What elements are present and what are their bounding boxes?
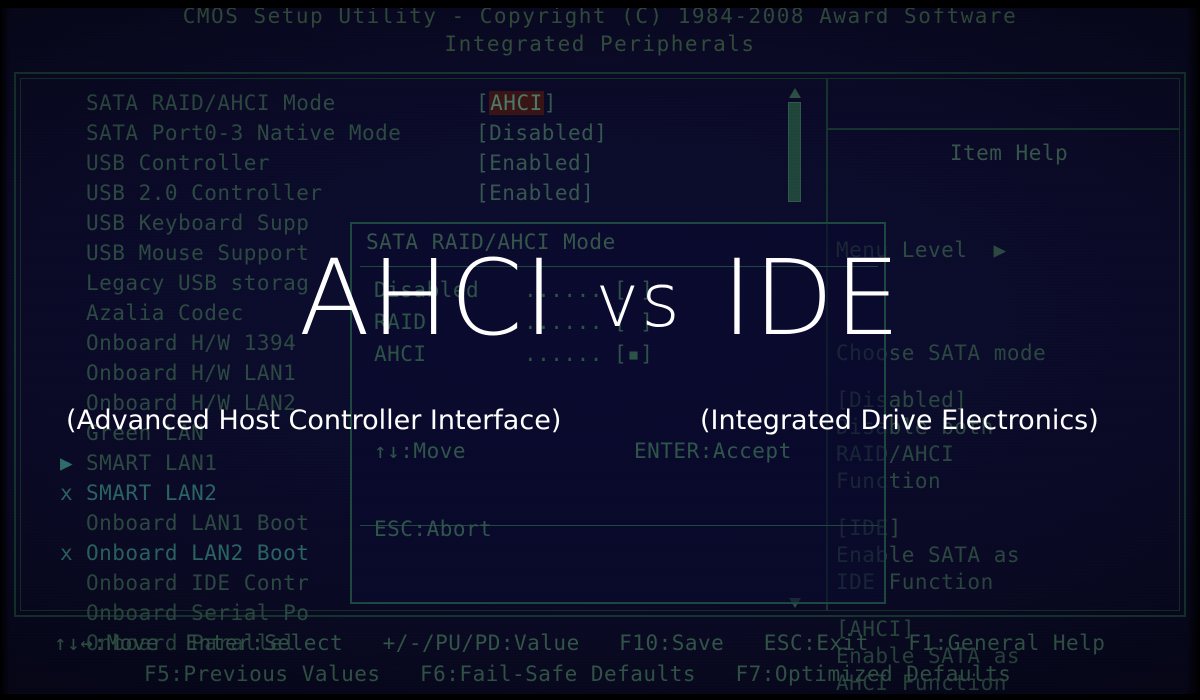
row-marker xyxy=(60,298,86,328)
row-marker xyxy=(60,88,86,118)
letterbox-bottom xyxy=(0,694,1200,700)
dialog-option-label: RAID xyxy=(374,306,524,338)
bios-screen: CMOS Setup Utility - Copyright (C) 1984-… xyxy=(0,0,1200,700)
letterbox-top xyxy=(0,0,1200,8)
menu-row-value[interactable]: [AHCI] xyxy=(476,88,800,118)
dialog-option[interactable]: AHCI......[▪] xyxy=(374,338,664,370)
dialog-key-accept: ENTER:Accept xyxy=(634,436,792,466)
item-help-block-line: RAID/AHCI xyxy=(836,441,1182,468)
row-marker xyxy=(60,178,86,208)
row-marker xyxy=(60,508,86,538)
dialog-footer: ↑↓:Move ENTER:Accept ESC:Abort xyxy=(374,388,874,592)
dialog-option-dots: ...... xyxy=(524,338,614,370)
menu-level-row: Menu Level▶ xyxy=(836,238,1182,262)
row-marker xyxy=(60,358,86,388)
screenshot-root: CMOS Setup Utility - Copyright (C) 1984-… xyxy=(0,0,1200,700)
selected-value-highlight[interactable]: AHCI xyxy=(489,91,544,115)
dialog-option-dots: ...... xyxy=(524,274,614,306)
row-marker xyxy=(60,208,86,238)
row-marker xyxy=(60,268,86,298)
dialog-option-label: Disabled xyxy=(374,274,524,306)
menu-level-marker-icon: ▶ xyxy=(967,238,1006,262)
row-marker xyxy=(60,598,86,628)
scrollbar-thumb[interactable] xyxy=(788,102,801,202)
dialog-title-divider xyxy=(360,266,878,267)
menu-row[interactable]: USB Controller[Enabled] xyxy=(60,148,800,178)
menu-row-label: SATA Port0-3 Native Mode xyxy=(86,118,476,148)
row-marker xyxy=(60,388,86,418)
key-hints-line2: F5:Previous Values F6:Fail-Safe Defaults… xyxy=(14,659,1186,690)
row-marker xyxy=(60,568,86,598)
menu-row-value[interactable]: [Enabled] xyxy=(476,178,800,208)
item-help-intro: Choose SATA mode xyxy=(836,340,1182,367)
scroll-up-arrow-icon[interactable] xyxy=(789,88,801,98)
dialog-option-label: AHCI xyxy=(374,338,524,370)
item-help-block-line: Enable SATA as xyxy=(836,542,1182,569)
menu-row-value[interactable]: [Enabled] xyxy=(476,148,800,178)
dialog-key-abort: ESC:Abort xyxy=(374,514,634,544)
bios-title-line2: Integrated Peripherals xyxy=(0,32,1200,56)
item-help-block: [Disabled]Disable bothRAID/AHCIFunction xyxy=(836,387,1182,495)
row-marker xyxy=(60,238,86,268)
dialog-option-checkbox[interactable]: [ ] xyxy=(614,274,664,306)
menu-row-label: SATA RAID/AHCI Mode xyxy=(86,88,476,118)
item-help-title: Item Help xyxy=(836,134,1182,172)
menu-row-label: USB 2.0 Controller xyxy=(86,178,476,208)
dialog-title: SATA RAID/AHCI Mode xyxy=(366,230,616,254)
dialog-key-move: ↑↓:Move xyxy=(374,436,634,466)
row-marker xyxy=(60,418,86,448)
disabled-marker-icon: x xyxy=(60,538,86,568)
dialog-option-checkbox-checked[interactable]: [▪] xyxy=(614,338,664,370)
menu-row[interactable]: SATA Port0-3 Native Mode[Disabled] xyxy=(60,118,800,148)
key-hints-line1: ↑↓↔:Move Enter:Select +/-/PU/PD:Value F1… xyxy=(14,628,1186,659)
sata-mode-dialog[interactable]: SATA RAID/AHCI Mode Disabled......[ ]RAI… xyxy=(350,222,886,604)
dialog-option-list[interactable]: Disabled......[ ]RAID......[ ]AHCI......… xyxy=(374,274,664,370)
item-help-block-line: Disable both xyxy=(836,414,1182,441)
menu-row-label: USB Controller xyxy=(86,148,476,178)
item-help-block-value: [IDE] xyxy=(836,515,1182,542)
disabled-marker-icon: x xyxy=(60,478,86,508)
item-help-block: [IDE]Enable SATA asIDE Function xyxy=(836,515,1182,596)
row-marker xyxy=(60,118,86,148)
dialog-option[interactable]: RAID......[ ] xyxy=(374,306,664,338)
dialog-option-dots: ...... xyxy=(524,306,614,338)
submenu-arrow-icon: ▶ xyxy=(60,448,86,478)
item-help-block-value: [Disabled] xyxy=(836,387,1182,414)
dialog-option-checkbox[interactable]: [ ] xyxy=(614,306,664,338)
menu-row[interactable]: USB 2.0 Controller[Enabled] xyxy=(60,178,800,208)
dialog-option[interactable]: Disabled......[ ] xyxy=(374,274,664,306)
menu-row-value[interactable]: [Disabled] xyxy=(476,118,800,148)
row-marker xyxy=(60,328,86,358)
item-help-block-line: Function xyxy=(836,468,1182,495)
function-key-bar: ↑↓↔:Move Enter:Select +/-/PU/PD:Value F1… xyxy=(14,628,1186,694)
item-help-block-line: IDE Function xyxy=(836,569,1182,596)
row-marker xyxy=(60,148,86,178)
menu-row[interactable]: SATA RAID/AHCI Mode[AHCI] xyxy=(60,88,800,118)
item-help-panel: Item Help Menu Level▶ Choose SATA mode[D… xyxy=(836,86,1182,700)
